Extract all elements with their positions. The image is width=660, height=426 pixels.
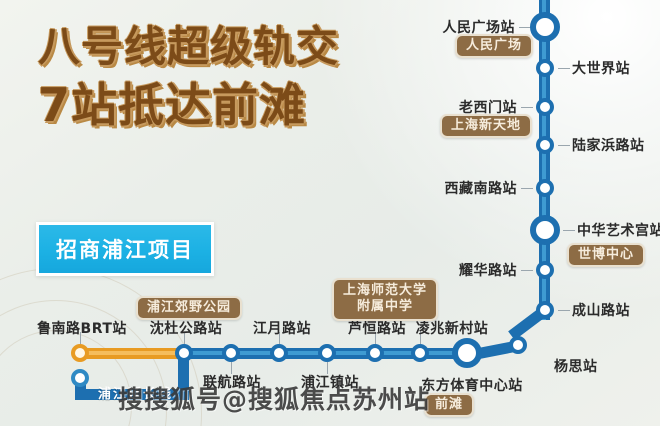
- station-label-lingzhaoxincun: 凌兆新村站: [416, 318, 489, 338]
- connector-tick: [521, 107, 533, 108]
- page-title: 八号线超级轨交 7站抵达前滩: [38, 22, 339, 132]
- connector-tick: [521, 270, 533, 271]
- station-dot-yaohualu[interactable]: [536, 261, 554, 279]
- connector-tick: [563, 230, 575, 231]
- station-dot-yangsi[interactable]: [509, 336, 527, 354]
- station-label-lunanlu-brt: 鲁南路BRT站: [37, 318, 127, 338]
- poi-tag-shanghaishifandaxue: 上海师范大学 附属中学: [332, 278, 438, 321]
- connector-tick: [558, 68, 570, 69]
- poi-tag-renminguangchang: 人民广场: [455, 34, 533, 58]
- station-dot-jiangyuelu[interactable]: [270, 344, 288, 362]
- poi-tag-pujiangjiaoyegongyuan: 浦江郊野公园: [136, 296, 242, 320]
- station-dot-lianhanglu[interactable]: [222, 344, 240, 362]
- station-label-dashijie: 大世界站: [572, 58, 630, 78]
- station-dot-dashijie[interactable]: [536, 59, 554, 77]
- poi-tag-qiantan: 前滩: [424, 393, 474, 417]
- station-label-zhonghuayishugong: 中华艺术宫站: [577, 220, 660, 240]
- station-label-dongfangtiyuzhongxin: 东方体育中心站: [421, 375, 523, 395]
- project-badge[interactable]: 招商浦江项目: [36, 222, 214, 276]
- watermark: 搜搜狐号@搜狐焦点苏州站: [118, 380, 430, 416]
- station-label-chengshanlu: 成山路站: [572, 300, 630, 320]
- station-dot-lujiabanglu[interactable]: [536, 136, 554, 154]
- station-dot-pujiangzhen[interactable]: [318, 344, 336, 362]
- station-label-lujiabanglu: 陆家浜路站: [572, 135, 645, 155]
- brt-line-orange-highlight: [78, 351, 188, 355]
- connector-tick: [558, 310, 570, 311]
- station-dot-renminguangchang[interactable]: [530, 12, 560, 42]
- poi-tag-shibozhongxin: 世博中心: [567, 243, 645, 267]
- station-dot-lunanlu-brt[interactable]: [71, 344, 89, 362]
- station-dot-branch-terminus[interactable]: [71, 369, 89, 387]
- station-dot-dongfangtiyuzhongxin[interactable]: [452, 338, 482, 368]
- poi-tag-line-2: 附属中学: [343, 299, 427, 315]
- station-dot-chengshanlu[interactable]: [536, 301, 554, 319]
- headline-line-2: 7站抵达前滩: [38, 78, 339, 132]
- connector-tick: [558, 145, 570, 146]
- station-dot-laoximen[interactable]: [536, 98, 554, 116]
- connector-tick: [521, 188, 533, 189]
- headline-line-1: 八号线超级轨交: [38, 22, 339, 72]
- metro-map-poster: 八号线超级轨交 7站抵达前滩 招商浦江项目 浦江延长线: [0, 0, 660, 426]
- station-label-yangsi: 杨思站: [554, 356, 598, 376]
- station-dot-shendugonglu[interactable]: [175, 344, 193, 362]
- station-label-shendugonglu: 沈杜公路站: [150, 318, 223, 338]
- station-dot-xizangnanlu[interactable]: [536, 179, 554, 197]
- station-dot-zhonghuayishugong[interactable]: [530, 215, 560, 245]
- station-dot-luhenglu[interactable]: [366, 344, 384, 362]
- poi-tag-xintiandi: 上海新天地: [440, 114, 532, 138]
- station-label-jiangyuelu: 江月路站: [253, 318, 311, 338]
- station-dot-lingzhaoxincun[interactable]: [411, 344, 429, 362]
- poi-tag-line-1: 上海师范大学: [343, 283, 427, 299]
- station-label-luhenglu: 芦恒路站: [348, 318, 406, 338]
- station-label-yaohualu: 耀华路站: [459, 260, 517, 280]
- station-label-xizangnanlu: 西藏南路站: [445, 178, 518, 198]
- decorative-ring-inner: [0, 330, 132, 426]
